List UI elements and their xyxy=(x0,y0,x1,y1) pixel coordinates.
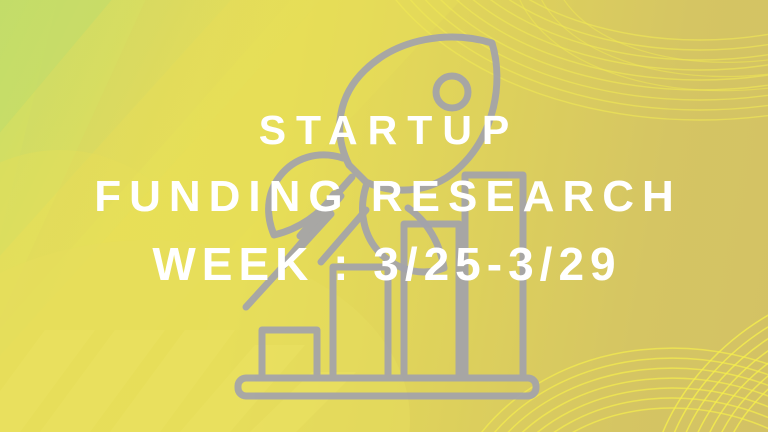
headline-block: STARTUP FUNDING RESEARCH WEEK : 3/25-3/2… xyxy=(0,110,768,287)
headline-line-1: STARTUP xyxy=(0,110,768,151)
headline-line-2: FUNDING RESEARCH xyxy=(0,175,768,219)
banner-canvas: STARTUP FUNDING RESEARCH WEEK : 3/25-3/2… xyxy=(0,0,768,432)
headline-line-3: WEEK : 3/25-3/29 xyxy=(0,241,768,287)
